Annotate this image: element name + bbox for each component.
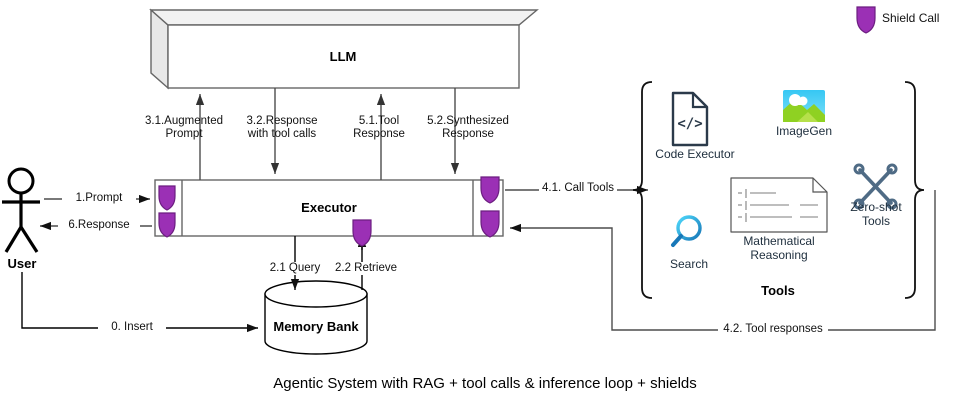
tool-label-zero-shot: Zero-shot Tools <box>838 200 914 228</box>
edge-label-call-tools: 4.1. Call Tools <box>539 182 617 195</box>
edge-label-insert: 0. Insert <box>98 321 166 334</box>
llm-title: LLM <box>268 49 418 64</box>
shield-icon <box>353 220 371 246</box>
executor-title: Executor <box>253 200 405 215</box>
edge-insert <box>22 272 258 328</box>
figure-caption: Agentic System with RAG + tool calls & i… <box>0 375 970 392</box>
edge-label-response: 6.Response <box>58 219 140 232</box>
shield-icon <box>481 211 499 237</box>
magnifier-icon <box>673 217 700 245</box>
tool-label-search: Search <box>654 257 724 271</box>
memory-bank-cylinder <box>265 281 367 354</box>
diagram-canvas: </> <box>0 0 970 411</box>
edge-label-prompt: 1.Prompt <box>62 192 136 205</box>
svg-text:</>: </> <box>677 116 702 132</box>
legend-shield-label: Shield Call <box>882 12 962 25</box>
edge-label-tool-response: 5.1.Tool Response <box>343 115 415 141</box>
formula-document-icon <box>731 178 827 232</box>
tool-label-code-executor: Code Executor <box>645 147 745 161</box>
edge-label-tool-responses: 4.2. Tool responses <box>718 323 828 336</box>
edge-label-synthesized-response: 5.2.Synthesized Response <box>420 115 516 141</box>
shield-icon <box>481 177 499 203</box>
shield-icon <box>159 213 175 237</box>
tools-group-title: Tools <box>718 283 838 298</box>
code-document-icon: </> <box>673 93 707 145</box>
tool-label-math: Mathematical Reasoning <box>733 234 825 262</box>
edge-label-augmented-prompt: 3.1.Augmented Prompt <box>140 115 228 141</box>
edge-label-response-with-tool-calls: 3.2.Response with tool calls <box>236 115 328 141</box>
memory-bank-title: Memory Bank <box>246 319 386 334</box>
tool-label-image-gen: ImageGen <box>764 124 844 138</box>
shield-icon <box>159 186 175 210</box>
edge-label-query: 2.1 Query <box>264 262 326 275</box>
user-title: User <box>0 256 44 271</box>
image-icon <box>783 90 825 122</box>
user-stick-figure <box>2 169 40 252</box>
edge-label-retrieve: 2.2 Retrieve <box>330 262 402 275</box>
shield-icon <box>857 7 875 33</box>
